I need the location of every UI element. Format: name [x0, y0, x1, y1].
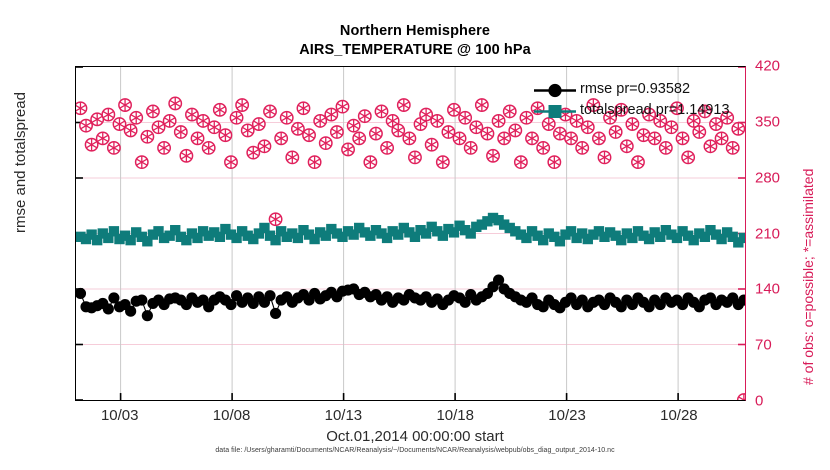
totalspread-marker-icon — [532, 101, 578, 122]
chart-figure: Northern Hemisphere AIRS_TEMPERATURE @ 1… — [0, 0, 830, 470]
x-axis-tick-10-18: 10/18 — [436, 407, 474, 424]
y-axis-right-label: # of obs: o=possible; *=assimilated — [800, 169, 816, 385]
legend-item-rmse: rmse pr=0.93582 — [532, 80, 762, 101]
y-axis-right-tick-210: 210 — [755, 225, 780, 242]
y-axis-right-tick-0: 0 — [755, 393, 763, 410]
x-axis-tick-10-23: 10/23 — [548, 407, 586, 424]
data-file-note: data file: /Users/gharamti/Documents/NCA… — [0, 447, 830, 454]
x-axis-tick-10-13: 10/13 — [325, 407, 363, 424]
x-axis-tick-10-28: 10/28 — [660, 407, 698, 424]
y-axis-right-tick-140: 140 — [755, 281, 780, 298]
x-axis-tick-10-08: 10/08 — [213, 407, 251, 424]
chart-legend: rmse pr=0.93582 totalspread pr=1.14913 — [532, 80, 762, 122]
y-axis-right-tick-280: 280 — [755, 169, 780, 186]
y-axis-right-tick-420: 420 — [755, 58, 780, 75]
y-axis-right-tick-70: 70 — [755, 337, 772, 354]
legend-label-totalspread: totalspread pr=1.14913 — [580, 102, 730, 118]
chart-title-line-2: AIRS_TEMPERATURE @ 100 hPa — [0, 41, 830, 60]
y-axis-left-label: rmse and totalspread — [12, 92, 29, 233]
chart-title-line-1: Northern Hemisphere — [0, 22, 830, 41]
rmse-marker-icon — [532, 80, 578, 101]
x-axis-tick-10-03: 10/03 — [101, 407, 139, 424]
chart-title: Northern Hemisphere AIRS_TEMPERATURE @ 1… — [0, 22, 830, 60]
legend-label-rmse: rmse pr=0.93582 — [580, 81, 690, 97]
legend-item-totalspread: totalspread pr=1.14913 — [532, 101, 762, 122]
x-axis-label: Oct.01,2014 00:00:00 start — [0, 428, 830, 445]
